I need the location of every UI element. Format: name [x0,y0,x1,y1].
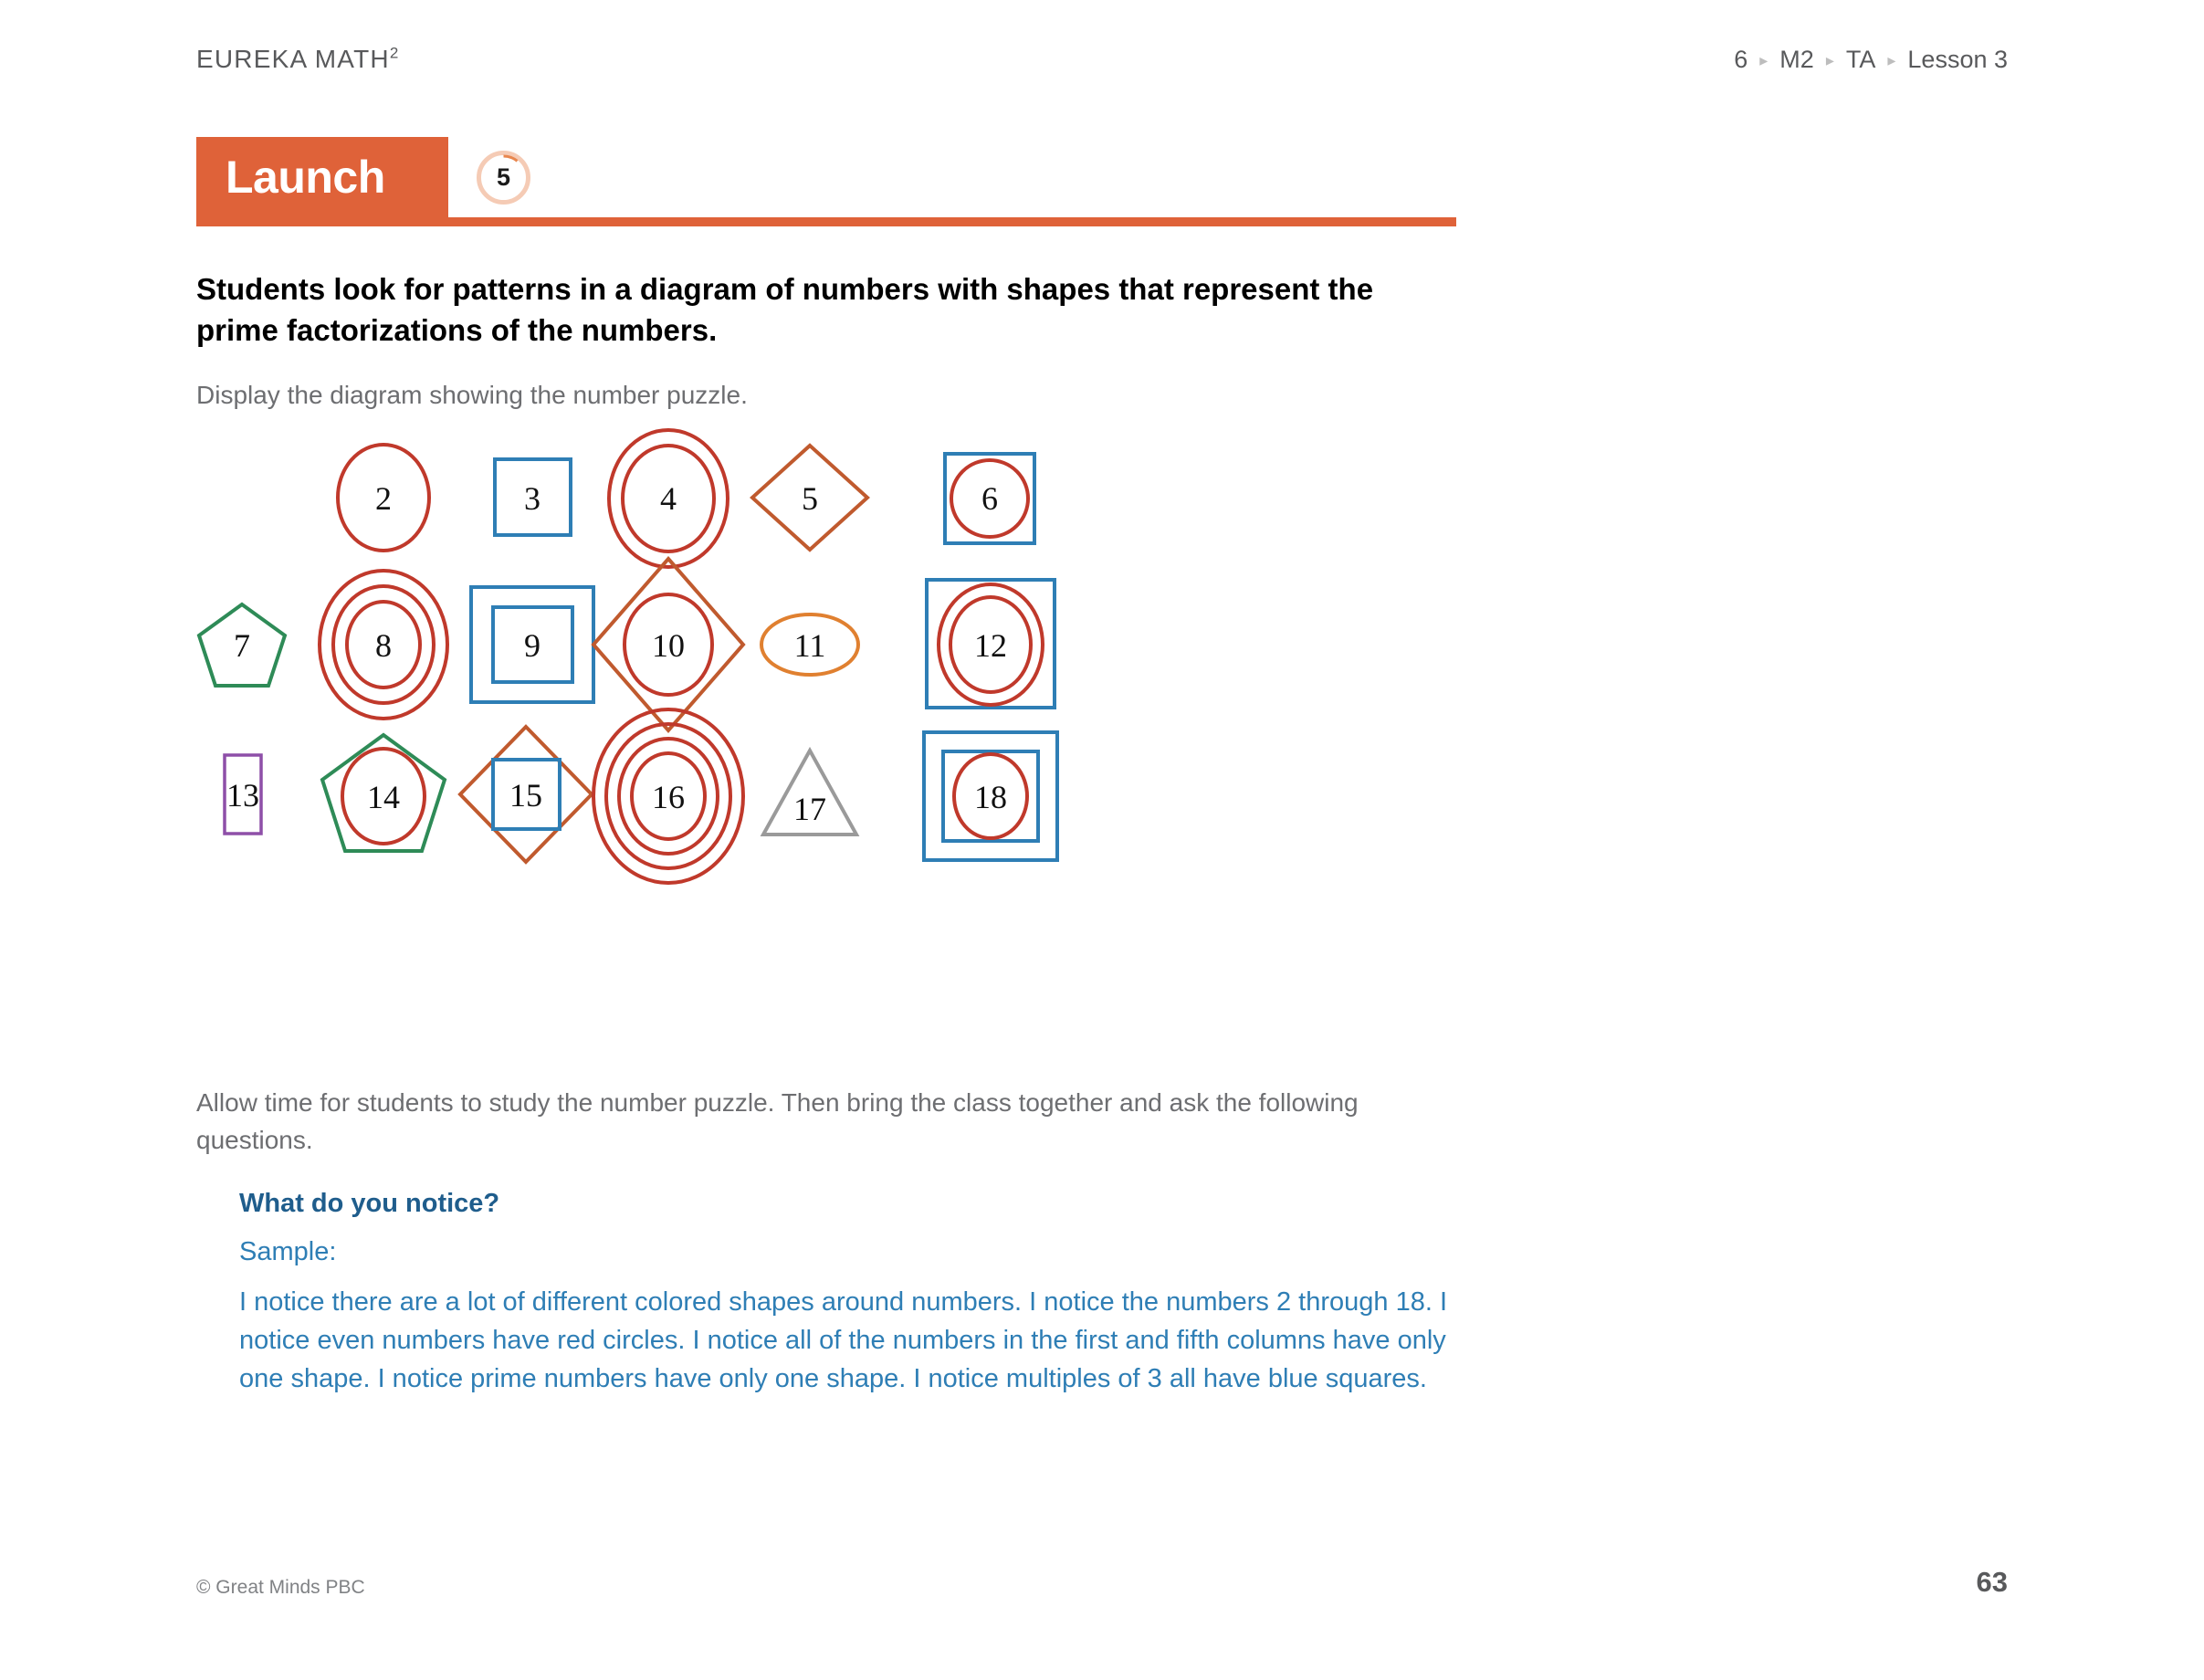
chevron-right-icon: ▸ [1887,52,1895,68]
chevron-right-icon: ▸ [1759,52,1768,68]
puzzle-number-8: 8 [375,627,392,664]
sample-label: Sample: [239,1237,1463,1267]
puzzle-number-7: 7 [234,627,250,664]
puzzle-number-18: 18 [974,779,1007,815]
timer-icon: 5 [475,149,532,206]
timer-minutes: 5 [475,149,532,206]
brand-name: EUREKA MATH [196,45,390,73]
lesson-objective: Students look for patterns in a diagram … [196,269,1447,352]
brand-title: EUREKA MATH2 [196,45,399,74]
breadcrumb-item-lesson[interactable]: Lesson 3 [1907,46,2008,74]
sample-response: I notice there are a lot of different co… [239,1283,1449,1398]
puzzle-number-17: 17 [793,791,826,827]
puzzle-number-12: 12 [974,627,1007,664]
puzzle-number-10: 10 [652,627,685,664]
puzzle-number-6: 6 [981,480,998,517]
breadcrumb-item-topic[interactable]: TA [1846,46,1876,74]
puzzle-number-11: 11 [794,627,826,664]
launch-tab: Launch [196,137,448,217]
number-puzzle-diagram: 2 3 4 5 6 7 8 9 10 11 12 13 14 15 16 17 … [173,402,1543,1059]
breadcrumb-item-module[interactable]: M2 [1779,46,1814,74]
launch-underline-rule [196,217,1456,226]
brand-superscript: 2 [390,45,400,62]
puzzle-number-3: 3 [524,480,541,517]
breadcrumb-item-grade[interactable]: 6 [1734,46,1747,74]
discussion-question: What do you notice? [239,1189,1463,1219]
puzzle-number-9: 9 [524,627,541,664]
puzzle-number-15: 15 [509,777,542,814]
puzzle-number-13: 13 [226,777,259,814]
follow-up-instruction: Allow time for students to study the num… [196,1085,1456,1159]
puzzle-number-14: 14 [367,779,400,815]
copyright-notice: © Great Minds PBC [196,1577,365,1599]
launch-banner: Launch 5 [196,137,1456,237]
puzzle-number-2: 2 [375,480,392,517]
page-number: 63 [1977,1566,2008,1599]
puzzle-number-16: 16 [652,779,685,815]
puzzle-number-5: 5 [802,480,818,517]
chevron-right-icon: ▸ [1826,52,1834,68]
breadcrumb: 6 ▸ M2 ▸ TA ▸ Lesson 3 [1734,46,2008,74]
page-header: EUREKA MATH2 6 ▸ M2 ▸ TA ▸ Lesson 3 [0,37,2204,82]
launch-label: Launch [226,154,385,200]
puzzle-number-4: 4 [660,480,677,517]
